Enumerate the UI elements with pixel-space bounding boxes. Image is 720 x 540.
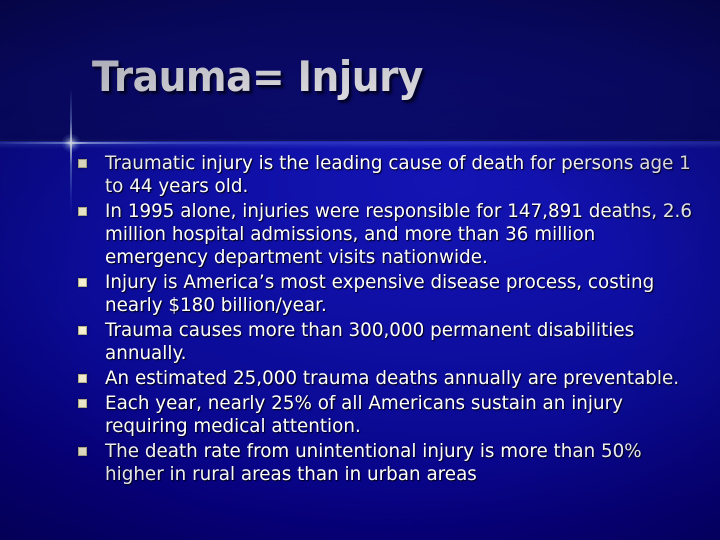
presentation-slide: Trauma= Injury Traumatic injury is the l… bbox=[0, 0, 720, 540]
square-bullet-icon bbox=[78, 159, 87, 168]
list-item: The death rate from unintentional injury… bbox=[78, 440, 706, 486]
list-item: In 1995 alone, injuries were responsible… bbox=[78, 200, 706, 269]
square-bullet-icon bbox=[78, 447, 87, 456]
bullet-text: Injury is America’s most expensive disea… bbox=[105, 271, 697, 317]
bullet-text: Traumatic injury is the leading cause of… bbox=[105, 152, 697, 198]
bullet-text: The death rate from unintentional injury… bbox=[105, 440, 697, 486]
square-bullet-icon bbox=[78, 399, 87, 408]
square-bullet-icon bbox=[78, 278, 87, 287]
slide-title: Trauma= Injury bbox=[92, 52, 423, 101]
square-bullet-icon bbox=[78, 374, 87, 383]
bullet-text: Trauma causes more than 300,000 permanen… bbox=[105, 319, 697, 365]
square-bullet-icon bbox=[78, 326, 87, 335]
bullet-text: In 1995 alone, injuries were responsible… bbox=[105, 200, 697, 269]
list-item: An estimated 25,000 trauma deaths annual… bbox=[78, 367, 706, 390]
bullet-text: An estimated 25,000 trauma deaths annual… bbox=[105, 367, 697, 390]
list-item: Injury is America’s most expensive disea… bbox=[78, 271, 706, 317]
list-item: Trauma causes more than 300,000 permanen… bbox=[78, 319, 706, 365]
list-item: Traumatic injury is the leading cause of… bbox=[78, 152, 706, 198]
list-item: Each year, nearly 25% of all Americans s… bbox=[78, 392, 706, 438]
bullet-list: Traumatic injury is the leading cause of… bbox=[78, 152, 706, 488]
square-bullet-icon bbox=[78, 207, 87, 216]
bullet-text: Each year, nearly 25% of all Americans s… bbox=[105, 392, 697, 438]
